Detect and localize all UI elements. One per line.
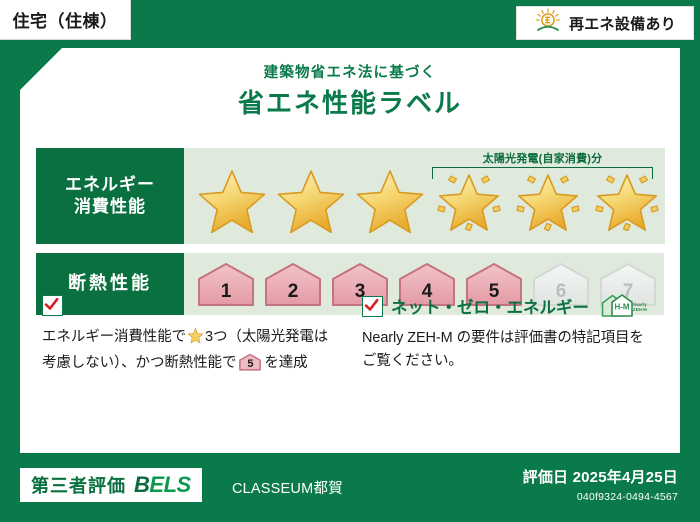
star-filled [352,162,428,238]
bels-certification-badge: 第三者評価 BELS [20,468,202,502]
evaluation-id: 040f9324-0494-4567 [523,491,678,503]
housing-type-badge: 住宅（住棟） [0,0,131,40]
housing-type-label: 住宅（住棟） [13,7,118,32]
bels-jp-label: 第三者評価 [31,472,126,498]
insulation-grade-inline-value: 5 [238,359,262,370]
zeh-standard-block: ZEH水準 エネルギー消費性能で3つ（太陽光発電は考慮しない）、かつ断熱性能で5… [42,293,338,376]
info-columns: ZEH水準 エネルギー消費性能で3つ（太陽光発電は考慮しない）、かつ断熱性能で5… [42,293,658,376]
svg-text:H-M: H-M [614,303,629,312]
zeh-body-text-1: エネルギー消費性能で [42,329,186,345]
star-filled-solar [431,162,507,238]
energy-performance-label: 住宅（住棟） 再エネ設備あり [0,0,700,522]
energy-star-panel: 太陽光発電(自家消費)分 [184,148,665,244]
net-zero-energy-title: ネット・ゼロ・エネルギー [391,294,589,318]
energy-performance-row: エネルギー 消費性能 太陽光発電(自家消費)分 [36,148,664,244]
svg-text:ZEH-M: ZEH-M [633,307,647,312]
star-filled-solar [589,162,665,238]
check-icon [362,296,383,317]
check-icon [42,295,63,316]
zeh-m-house-icon: H-M Nearly ZEH-M [599,293,649,319]
bels-logo-b: B [134,472,149,497]
evaluation-info: 評価日 2025年4月25日 040f9324-0494-4567 [523,466,678,503]
label-card: 建築物省エネ法に基づく 省エネ性能ラベル エネルギー 消費性能 太陽光発電(自家… [20,48,680,453]
label-title: 省エネ性能ラベル [20,90,680,116]
label-subtitle: 建築物省エネ法に基づく [20,66,680,81]
energy-performance-label: エネルギー 消費性能 [36,148,184,244]
zeh-standard-body: エネルギー消費性能で3つ（太陽光発電は考慮しない）、かつ断熱性能で5を達成 [42,326,338,376]
star-filled [273,162,349,238]
zeh-body-text-4: を達成 [264,355,307,371]
renewable-equipment-label: 再エネ設備あり [569,13,676,34]
net-zero-energy-block: ネット・ゼロ・エネルギー H-M Nearly ZEH-M Nearly ZEH… [362,293,658,376]
star-rating [184,162,665,238]
renewable-equipment-badge: 再エネ設備あり [516,6,694,40]
zeh-body-text-2: 3つ（太陽光発電 [205,329,314,345]
net-zero-energy-header: ネット・ゼロ・エネルギー H-M Nearly ZEH-M [362,293,658,319]
bels-logo: BELS [134,472,191,498]
label-footer: 第三者評価 BELS CLASSEUM都賀 評価日 2025年4月25日 040… [0,456,700,522]
property-name: CLASSEUM都賀 [232,477,343,498]
bels-logo-els: ELS [149,472,190,497]
sun-renewable-icon [534,8,562,39]
star-filled-solar [510,162,586,238]
star-filled [194,162,270,238]
net-zero-energy-body: Nearly ZEH-M の要件は評価書の特記項目をご覧ください。 [362,327,658,374]
insulation-grade-inline-icon: 5 [238,353,262,371]
zeh-standard-header: ZEH水準 [42,293,338,318]
evaluation-date: 評価日 2025年4月25日 [523,466,678,487]
star-icon [187,332,204,348]
zeh-standard-title: ZEH水準 [71,293,144,318]
title-block: 建築物省エネ法に基づく 省エネ性能ラベル [20,66,680,116]
